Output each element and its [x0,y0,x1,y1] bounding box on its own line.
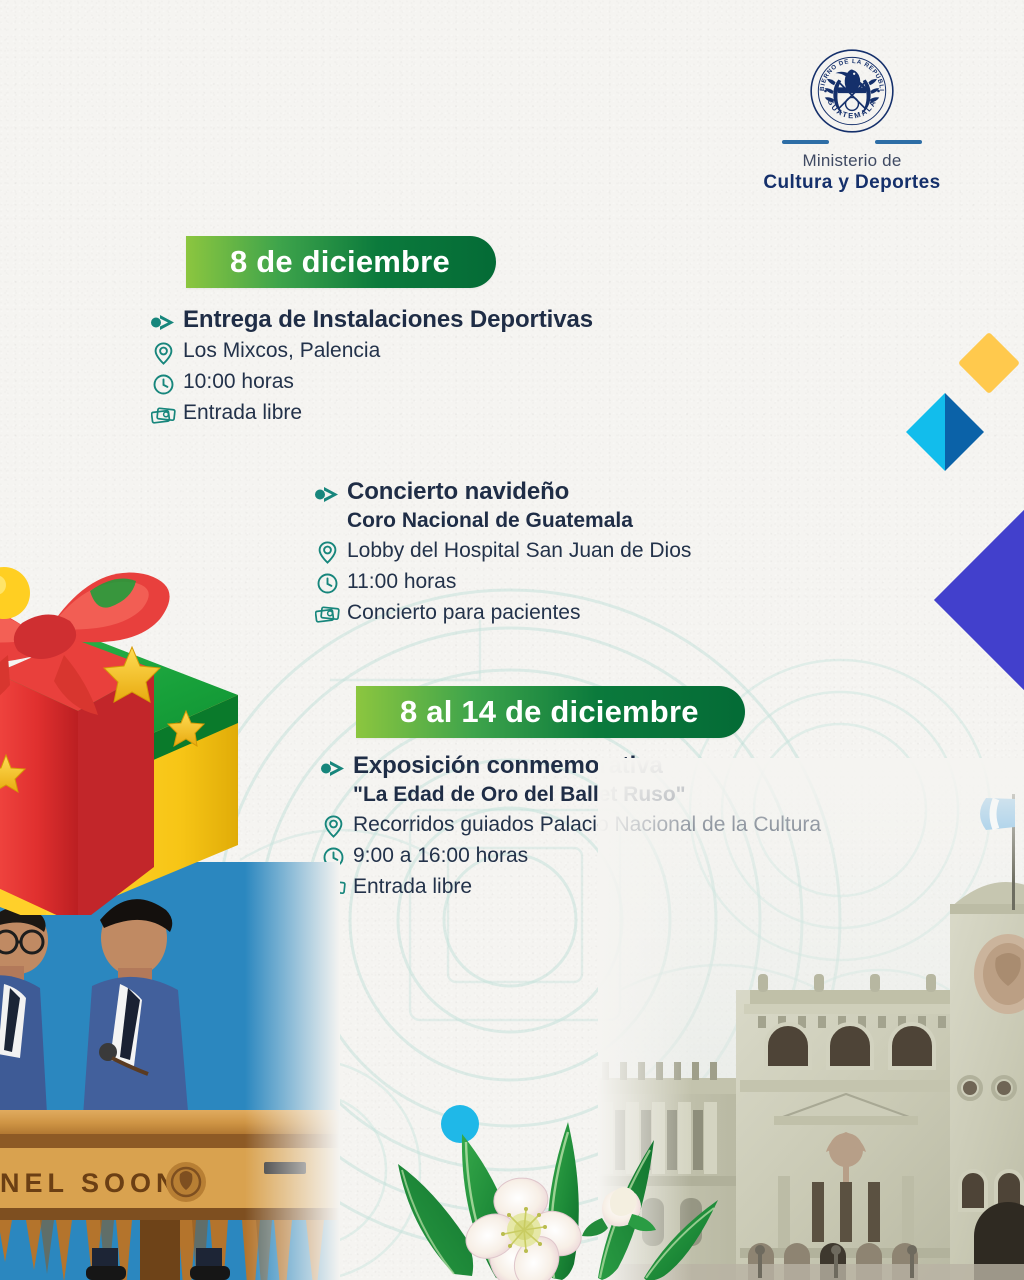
logo-rule-right [875,140,922,144]
event-time-row: 11:00 horas [314,568,691,597]
event-location: Los Mixcos, Palencia [183,337,380,364]
christmas-gift-box [0,495,258,915]
date-banner-2: 8 al 14 de diciembre [356,686,745,738]
event-location-row: Los Mixcos, Palencia [150,337,593,366]
arrow-bullet-icon [150,309,176,335]
event-block-1: Entrega de Instalaciones Deportivas Los … [150,306,593,428]
diamond-cyan-blue [906,393,984,471]
clock-icon [150,371,176,397]
ministry-line-2: Cultura y Deportes [752,172,952,194]
event-admission-row: Concierto para pacientes [314,599,691,628]
event-title: Entrega de Instalaciones Deportivas [183,306,593,334]
ministry-line-1: Ministerio de [752,151,952,171]
event-title: Concierto navideño [347,478,569,506]
arrow-bullet-icon [314,481,340,507]
event-admission: Concierto para pacientes [347,599,580,626]
event-subtitle: Coro Nacional de Guatemala [347,508,691,534]
event-title-row: Concierto navideño [314,478,691,507]
diamond-yellow [958,332,1020,394]
ticket-icon [150,402,176,428]
guatemala-seal-icon: GOBIERNO DE LA REPÚBLICA GUATEMALA [809,48,895,134]
diamond-purple [934,494,1024,706]
location-pin-icon [314,540,340,566]
arrow-bullet-icon [320,755,346,781]
logo-rule-left [782,140,829,144]
date-banner-2-label: 8 al 14 de diciembre [400,694,699,730]
location-pin-icon [150,340,176,366]
poster-canvas: GOBIERNO DE LA REPÚBLICA GUATEMALA [0,0,1024,1280]
ticket-icon [314,602,340,628]
event-admission: Entrada libre [353,873,472,900]
date-banner-1-label: 8 de diciembre [230,244,450,280]
ministry-logo-block: GOBIERNO DE LA REPÚBLICA GUATEMALA [752,48,952,194]
event-time-row: 10:00 horas [150,368,593,397]
event-admission: Entrada libre [183,399,302,426]
monja-blanca-foliage [392,1078,722,1280]
event-time: 11:00 horas [347,568,456,595]
event-location: Lobby del Hospital San Juan de Dios [347,537,691,564]
logo-divider-rules [752,140,952,144]
date-banner-1: 8 de diciembre [186,236,496,288]
event-admission-row: Entrada libre [150,399,593,428]
event-title-row: Entrega de Instalaciones Deportivas [150,306,593,335]
event-block-2: Concierto navideño Coro Nacional de Guat… [314,478,691,628]
event-time: 10:00 horas [183,368,294,395]
podium-ceremony-photo: ONEL SOON" [0,862,340,1280]
event-time: 9:00 a 16:00 horas [353,842,528,869]
location-pin-icon [320,814,346,840]
event-location-row: Lobby del Hospital San Juan de Dios [314,537,691,566]
clock-icon [314,571,340,597]
